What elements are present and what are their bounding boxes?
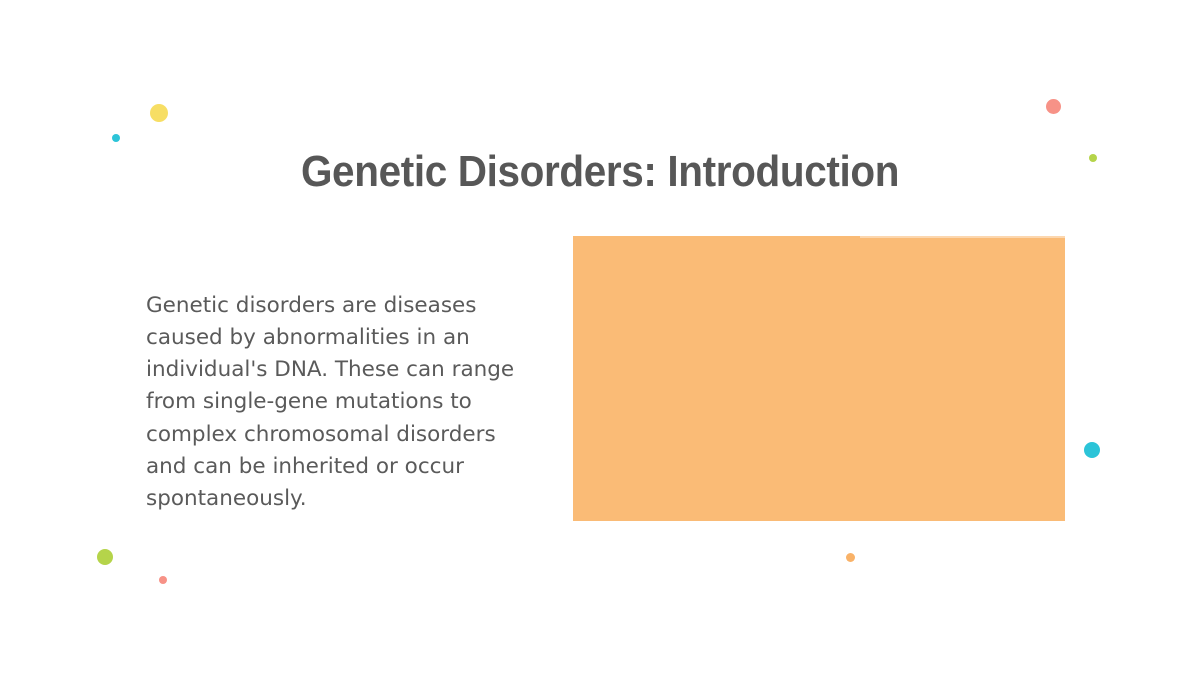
slide-body-text: Genetic disorders are diseases caused by… bbox=[146, 290, 538, 516]
dot-orange-bottom bbox=[846, 553, 855, 562]
presentation-slide: Genetic Disorders: Introduction Genetic … bbox=[0, 0, 1200, 675]
dot-cyan-right bbox=[1084, 442, 1100, 458]
dot-salmon-bottom-left bbox=[159, 576, 167, 584]
dot-green-bottom-left bbox=[97, 549, 113, 565]
dot-cyan-top-left bbox=[112, 134, 120, 142]
image-placeholder[interactable] bbox=[573, 236, 1065, 521]
dot-green-top-right bbox=[1089, 154, 1097, 162]
page-title: Genetic Disorders: Introduction bbox=[48, 147, 1152, 197]
image-placeholder-highlight bbox=[860, 236, 1065, 238]
dot-salmon-top-right bbox=[1046, 99, 1061, 114]
dot-yellow-top-left bbox=[150, 104, 168, 122]
